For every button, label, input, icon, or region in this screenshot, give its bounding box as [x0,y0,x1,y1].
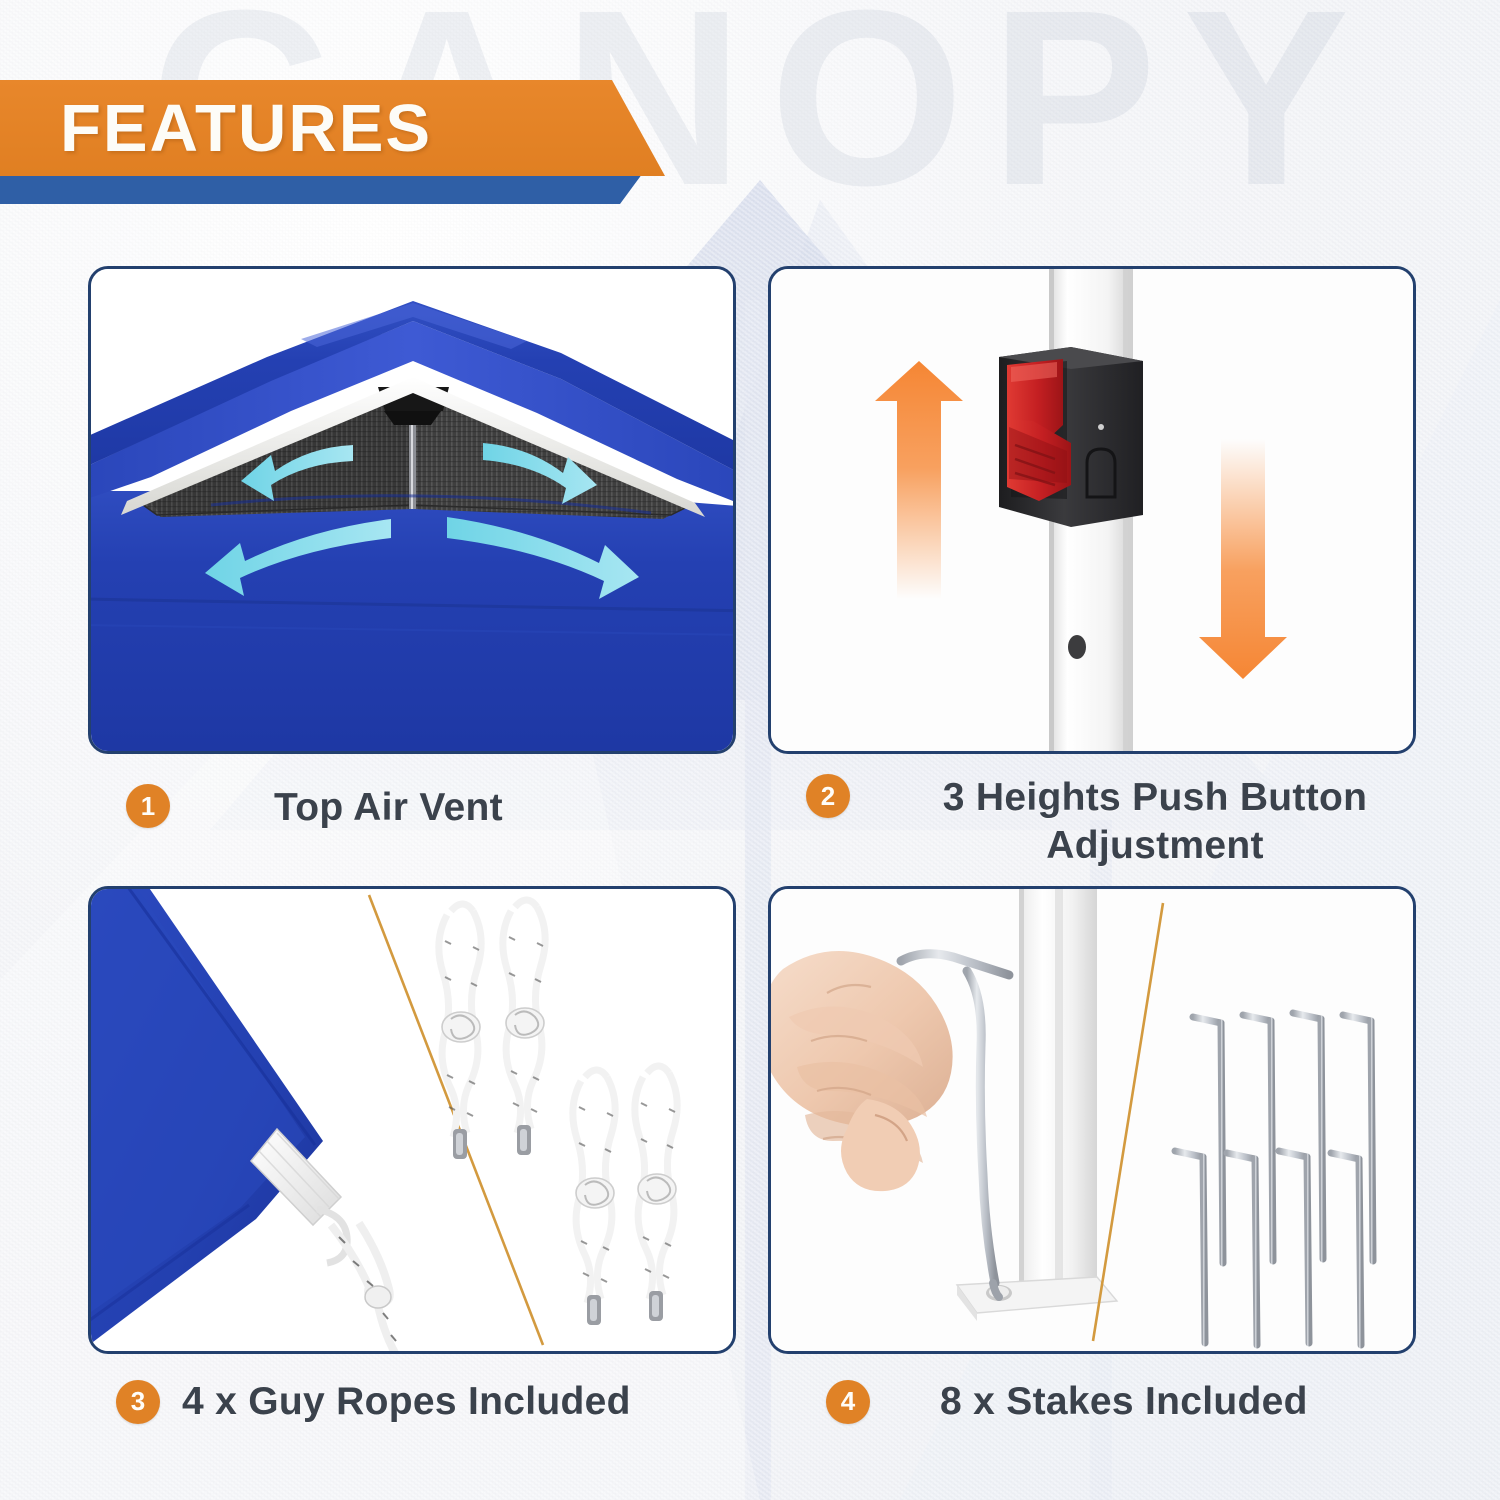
feature-1-image-panel [88,266,736,754]
feature-item-4: 4 8 x Stakes Included [768,886,1416,1446]
feature-2-number-badge: 2 [806,774,850,818]
feature-1-number-badge: 1 [126,784,170,828]
feature-2-image-panel [768,266,1416,754]
push-button-height-adjustment-photo [771,269,1413,751]
features-grid: 1 Top Air Vent [0,0,1500,1500]
feature-1-label: Top Air Vent [274,784,503,832]
feature-3-image-panel [88,886,736,1354]
feature-item-3: 3 4 x Guy Ropes Included [88,886,736,1446]
feature-item-2: 2 3 Heights Push Button Adjustment [768,266,1416,886]
feature-item-1: 1 Top Air Vent [88,266,736,886]
guy-ropes-photo [91,889,733,1351]
feature-1-caption: 1 Top Air Vent [126,784,736,832]
canopy-top-air-vent-photo [91,269,733,751]
stakes-photo [771,889,1413,1351]
feature-3-caption: 3 4 x Guy Ropes Included [116,1378,736,1426]
feature-4-label: 8 x Stakes Included [940,1378,1308,1426]
feature-4-image-panel [768,886,1416,1354]
feature-3-label: 4 x Guy Ropes Included [182,1378,631,1426]
feature-4-number-badge: 4 [826,1380,870,1424]
feature-3-number-badge: 3 [116,1380,160,1424]
feature-2-caption: 2 3 Heights Push Button Adjustment [806,774,1416,869]
feature-2-label: 3 Heights Push Button Adjustment [894,774,1416,869]
feature-4-caption: 4 8 x Stakes Included [826,1378,1426,1426]
